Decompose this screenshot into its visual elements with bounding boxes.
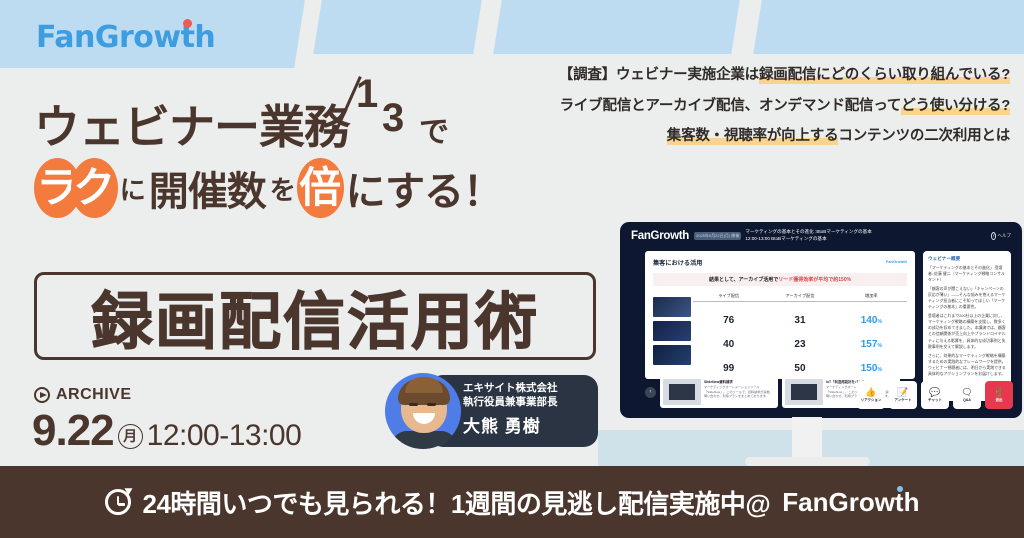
slide-subtitle-plain: 結果として、アーカイブ活用で bbox=[709, 277, 778, 283]
play-circle-icon bbox=[34, 387, 50, 403]
avatar-eye-left bbox=[409, 403, 418, 406]
table-header-archive: アーカイブ配信 bbox=[764, 293, 835, 302]
cell-rate-2-value: 157 bbox=[861, 339, 878, 350]
right-copy-1-highlight: 録画配信にどのくらい取り組んでいる? bbox=[759, 67, 1010, 84]
speaker-avatar bbox=[385, 373, 461, 449]
monitor-foot bbox=[745, 457, 870, 466]
reaction-label: リアクション bbox=[861, 398, 882, 403]
table-row: 76 31 140% bbox=[653, 309, 907, 326]
event-weekday: 月 bbox=[118, 424, 143, 449]
overview-p3: 登壇者はこれまで200社以上の企業に対し、マーケティング戦略の構築を支援し、数多… bbox=[928, 313, 1006, 349]
cell-rate-1-value: 140 bbox=[861, 315, 878, 326]
title-box-text: 録画配信活用術 bbox=[91, 271, 539, 361]
overview-title: ウェビナー概要 bbox=[928, 256, 1006, 262]
qa-button[interactable]: 🗨 Q&A bbox=[953, 381, 981, 409]
headline-block: ウェビナー業務 1 3 で ラ ク に 開催数 を 倍 にする！ bbox=[34, 88, 504, 218]
speaker-block: エキサイト株式会社 執行役員兼事業部長 大熊 勇樹 bbox=[385, 373, 598, 449]
table-row: 40 23 157% bbox=[653, 333, 907, 350]
card-heading-1: SlideNow資料請求 bbox=[704, 379, 775, 384]
headline-line1-suffix: で bbox=[419, 118, 448, 148]
brand-logo: FanGrowth bbox=[36, 20, 215, 55]
survey-pencil-icon: 📝 bbox=[897, 388, 908, 397]
app-logo: FanGrowth bbox=[631, 230, 689, 242]
exit-label: 退出 bbox=[996, 398, 1003, 403]
clock-arrow-icon bbox=[105, 489, 131, 515]
reaction-button[interactable]: 👍 リアクション bbox=[857, 381, 885, 409]
headline-line-1: ウェビナー業務 1 3 で bbox=[34, 88, 504, 150]
speaker-role: 執行役員兼事業部長 bbox=[463, 396, 590, 410]
thumbnail-1 bbox=[653, 297, 691, 317]
overview-p4: さらに、効果的なマーケティング戦略を構築するための実践的なフレームワークを提供。… bbox=[928, 353, 1006, 377]
chat-icon: 💬 bbox=[929, 388, 940, 397]
right-copy-1-plain: 【調査】ウェビナー実施企業は bbox=[559, 67, 759, 83]
fraction-one-third: 1 3 bbox=[353, 88, 415, 150]
slide-subtitle-highlight: リード獲得効率が平均で約150% bbox=[778, 277, 851, 283]
webinar-banner-canvas: FanGrowth ウェビナー業務 1 3 で ラ ク に 開催数 を 倍 にす… bbox=[0, 0, 1024, 538]
cell-live-2: 40 bbox=[693, 339, 764, 350]
title-box: 録画配信活用術 bbox=[34, 272, 596, 360]
table-header-rate: 増加率 bbox=[836, 293, 907, 302]
right-copy-3-highlight: 集客数・視聴率が向上する bbox=[667, 128, 839, 145]
cell-rate-3-unit: % bbox=[877, 367, 881, 373]
avatar-eye-right bbox=[427, 403, 436, 406]
headline-line1-text: ウェビナー業務 bbox=[34, 104, 349, 150]
survey-label: アンケート bbox=[894, 398, 911, 403]
bg-shape-2 bbox=[313, 0, 483, 54]
archive-label-group: ARCHIVE bbox=[34, 386, 132, 404]
table-header-live: ライブ配信 bbox=[693, 293, 764, 302]
thumbs-up-icon: 👍 bbox=[865, 388, 876, 397]
cell-rate-2: 157% bbox=[836, 339, 907, 350]
monitor-screen: FanGrowth 2025年9月22日(月) 開催 マーケティングの基本とその… bbox=[623, 225, 1019, 415]
app-topbar: FanGrowth 2025年9月22日(月) 開催 マーケティングの基本とその… bbox=[623, 225, 1019, 247]
speaker-company: エキサイト株式会社 bbox=[463, 382, 590, 396]
fraction-denominator: 3 bbox=[382, 98, 403, 138]
cell-archive-3: 50 bbox=[764, 363, 835, 374]
table-col-rate: 増加率 bbox=[836, 293, 907, 302]
headline-particle-wo: を bbox=[270, 170, 295, 207]
list-item[interactable]: SlideNow資料請求 マーケティングオートメーションツール「SlideNow… bbox=[660, 376, 778, 408]
right-copy-panel: 【調査】ウェビナー実施企業は録画配信にどのくらい取り組んでいる? ライブ配信とア… bbox=[448, 58, 1024, 156]
bg-shape-4 bbox=[753, 0, 1024, 54]
right-copy-line-1: 【調査】ウェビナー実施企業は録画配信にどのくらい取り組んでいる? bbox=[478, 68, 1010, 83]
webinar-overview-panel[interactable]: ウェビナー概要 「マーケティングの基本とその進化」 登壇者: 佐藤 健二（マーケ… bbox=[923, 251, 1011, 401]
help-button[interactable]: ? ヘルプ bbox=[991, 232, 1011, 240]
cell-rate-3: 150% bbox=[836, 363, 907, 374]
slide-logo: FanGrowth bbox=[886, 259, 907, 264]
event-time: 12:00-13:00 bbox=[147, 419, 302, 453]
cell-live-1: 76 bbox=[693, 315, 764, 326]
cell-rate-3-value: 150 bbox=[861, 363, 878, 374]
slide-table-header: ライブ配信 アーカイブ配信 増加率 bbox=[653, 293, 907, 302]
survey-button[interactable]: 📝 アンケート bbox=[889, 381, 917, 409]
archive-label: ARCHIVE bbox=[56, 386, 132, 404]
help-label: ヘルプ bbox=[998, 233, 1012, 238]
table-col-live: ライブ配信 bbox=[693, 293, 764, 302]
overview-p2: 「顧客の声が聞こえない」「キャンペーンの反応が薄い」――そんな悩みを抱えるマーケ… bbox=[928, 286, 1006, 310]
slide-title: 集客における活用 bbox=[653, 258, 907, 267]
card-thumbnail bbox=[785, 379, 823, 405]
thumbnail-2 bbox=[653, 321, 691, 341]
event-date-time: 9.22 月 12:00-13:00 bbox=[32, 406, 301, 456]
app-date-badge: 2025年9月22日(月) 開催 bbox=[694, 232, 741, 240]
presentation-slide[interactable]: FanGrowth 集客における活用 結果として、アーカイブ活用でリード獲得効率… bbox=[645, 251, 915, 379]
right-copy-2-plain: ライブ配信とアーカイブ配信、オンデマンド配信って bbox=[560, 98, 902, 114]
question-circle-icon: ? bbox=[991, 232, 996, 240]
right-copy-2-highlight: どう使い分ける? bbox=[901, 98, 1010, 115]
banner-logo: FanGrowth bbox=[782, 487, 919, 518]
exit-icon: 🚪 bbox=[993, 388, 1004, 397]
right-copy-3-plain: コンテンツの二次利用とは bbox=[838, 128, 1010, 144]
monitor-stand bbox=[792, 417, 822, 459]
card-thumbnail bbox=[663, 379, 701, 405]
card-body-1: マーケティングオートメーションツール「SlideNow」。このツールで、資料請求… bbox=[704, 385, 775, 399]
table-row: 99 50 150% bbox=[653, 357, 907, 374]
cell-live-3: 99 bbox=[693, 363, 764, 374]
chevron-left-icon[interactable]: ‹ bbox=[645, 387, 656, 398]
cell-rate-1-unit: % bbox=[877, 319, 881, 325]
banner-text: 24時間いつでも見られる！1週間の見逃し配信実施中@ bbox=[143, 484, 771, 521]
exit-button[interactable]: 🚪 退出 bbox=[985, 381, 1013, 409]
chat-label: チャット bbox=[928, 398, 942, 403]
headline-line2-mid: 開催数 bbox=[149, 159, 266, 217]
thumbnail-3 bbox=[653, 345, 691, 365]
cell-rate-1: 140% bbox=[836, 315, 907, 326]
app-session-title-line1: マーケティングの基本とその進化 :BtoBマーケティングの基本 bbox=[745, 229, 871, 234]
chat-button[interactable]: 💬 チャット bbox=[921, 381, 949, 409]
slide-subtitle: 結果として、アーカイブ活用でリード獲得効率が平均で約150% bbox=[653, 273, 907, 286]
app-session-title: マーケティングの基本とその進化 :BtoBマーケティングの基本 12:00-13… bbox=[745, 229, 871, 243]
cell-archive-2: 23 bbox=[764, 339, 835, 350]
right-copy-line-2: ライブ配信とアーカイブ配信、オンデマンド配信ってどう使い分ける? bbox=[478, 99, 1010, 114]
monitor-device: FanGrowth 2025年9月22日(月) 開催 マーケティングの基本とその… bbox=[620, 222, 1022, 418]
bg-shape-3 bbox=[493, 0, 741, 54]
speaker-name: 大熊 勇樹 bbox=[463, 412, 590, 437]
qa-icon: 🗨 bbox=[961, 388, 972, 397]
cell-rate-2-unit: % bbox=[877, 343, 881, 349]
app-session-title-line2: 12:00-13:00 BtoBマーケティングの基本 bbox=[745, 236, 826, 241]
emphasis-circle-2: ク bbox=[71, 158, 118, 218]
avatar-body bbox=[391, 431, 457, 449]
table-col-archive: アーカイブ配信 bbox=[764, 293, 835, 302]
bottom-banner: 24時間いつでも見られる！1週間の見逃し配信実施中@ FanGrowth bbox=[0, 466, 1024, 538]
overview-p1: 「マーケティングの基本とその進化」 登壇者: 佐藤 健二（マーケティング戦略コン… bbox=[928, 265, 1006, 283]
event-date: 9.22 bbox=[32, 406, 114, 456]
cell-archive-1: 31 bbox=[764, 315, 835, 326]
headline-particle-ni: に bbox=[120, 170, 145, 207]
qa-label: Q&A bbox=[963, 398, 971, 402]
right-copy-line-3: 集客数・視聴率が向上するコンテンツの二次利用とは bbox=[478, 129, 1010, 144]
slide-thumbnails bbox=[653, 297, 691, 369]
overview-body: 「マーケティングの基本とその進化」 登壇者: 佐藤 健二（マーケティング戦略コン… bbox=[928, 265, 1006, 377]
webinar-toolbar: 👍 リアクション 📝 アンケート 💬 チャット 🗨 Q&A 🚪 退 bbox=[857, 381, 1013, 409]
emphasis-circle-3: 倍 bbox=[297, 158, 344, 218]
headline-line-2: ラ ク に 開催数 を 倍 にする！ bbox=[34, 158, 504, 218]
headline-line2-end: にする！ bbox=[346, 159, 502, 217]
